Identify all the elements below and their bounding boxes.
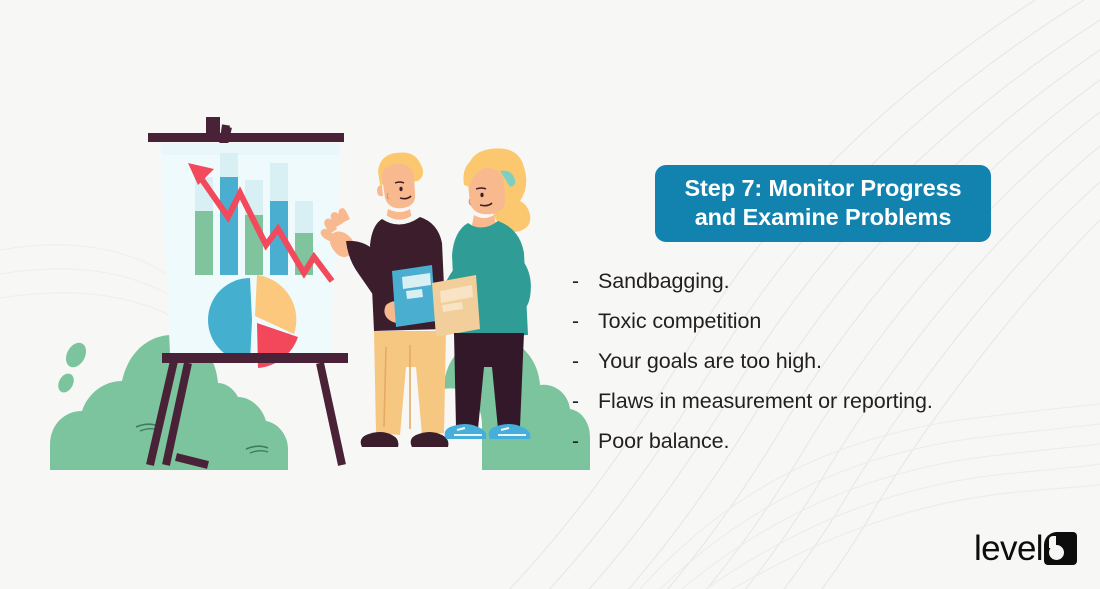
list-item-label: Toxic competition <box>598 301 761 341</box>
woman-shoe-left <box>445 424 487 439</box>
easel-tray <box>162 353 348 363</box>
slide-canvas: Step 7: Monitor Progress and Examine Pro… <box>0 0 1100 589</box>
list-item: - Your goals are too high. <box>572 341 1072 381</box>
logo-wordmark: level <box>974 531 1043 566</box>
man-face <box>382 164 415 208</box>
list-item-label: Your goals are too high. <box>598 341 822 381</box>
logo-six-mark-icon <box>1044 532 1077 565</box>
illustration-easel-and-people <box>30 105 590 475</box>
list-item: - Flaws in measurement or reporting. <box>572 381 1072 421</box>
list-item: - Sandbagging. <box>572 261 1072 301</box>
bullet-dash-icon: - <box>572 382 598 422</box>
cream-folder <box>432 275 480 337</box>
list-item: - Poor balance. <box>572 421 1072 461</box>
problem-list: - Sandbagging. - Toxic competition - You… <box>572 261 1072 461</box>
bullet-dash-icon: - <box>572 302 598 342</box>
bullet-dash-icon: - <box>572 422 598 462</box>
blue-folder <box>392 265 436 327</box>
person-left <box>321 152 449 447</box>
list-item-label: Sandbagging. <box>598 261 730 301</box>
man-shoe-right <box>411 432 449 447</box>
easel-top-bar <box>148 133 344 142</box>
list-item-label: Flaws in measurement or reporting. <box>598 381 933 421</box>
easel-top-tab <box>206 117 220 135</box>
bullet-dash-icon: - <box>572 342 598 382</box>
brand-logo: level <box>974 531 1077 566</box>
list-item-label: Poor balance. <box>598 421 729 461</box>
page-title: Step 7: Monitor Progress and Examine Pro… <box>684 174 961 231</box>
list-item: - Toxic competition <box>572 301 1072 341</box>
step-title-banner: Step 7: Monitor Progress and Examine Pro… <box>655 165 991 242</box>
bullet-dash-icon: - <box>572 262 598 302</box>
